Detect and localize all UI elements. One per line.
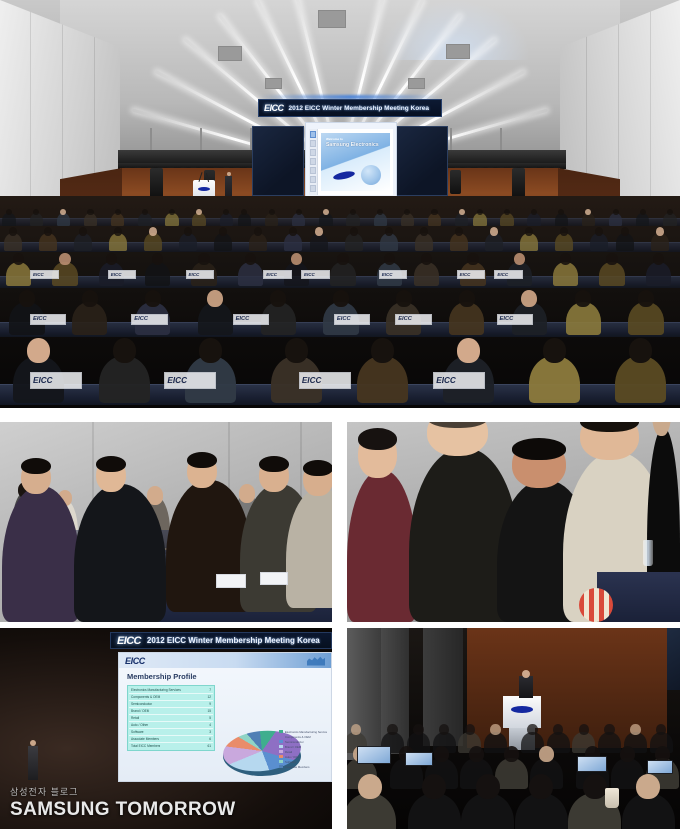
- audience-head: [396, 290, 412, 307]
- audience-member: [192, 213, 205, 225]
- rig-rod: [500, 128, 502, 152]
- name-card: EICC: [186, 270, 215, 279]
- audience-member: [455, 213, 468, 225]
- striped-cup: [579, 588, 613, 622]
- audience-head: [59, 253, 70, 265]
- audience-member: [450, 233, 468, 250]
- audience-head: [413, 724, 423, 735]
- hanging-speaker: [450, 170, 461, 194]
- audience-head: [621, 227, 629, 236]
- audience-head: [459, 290, 475, 307]
- audience-member: [111, 213, 124, 225]
- banner-title: 2012 EICC Winter Membership Meeting Kore…: [289, 105, 429, 112]
- audience-head: [579, 724, 589, 735]
- audience-head: [469, 746, 484, 762]
- slide-thumbnail: [310, 176, 316, 183]
- audience-head: [539, 746, 554, 762]
- eicc-logo: EICC: [125, 656, 145, 666]
- eicc-logo: EICC: [33, 376, 53, 385]
- name-card: EICC: [301, 270, 330, 279]
- photo-main-hall: EICC 2012 EICC Winter Membership Meeting…: [0, 0, 680, 408]
- audience-head: [385, 227, 393, 236]
- audience-head: [358, 774, 382, 799]
- audience-head: [653, 253, 664, 265]
- audience-hair: [96, 456, 126, 472]
- table-row: Brand / OEM15: [129, 708, 213, 715]
- audience-head: [667, 209, 673, 216]
- ceiling-vent: [218, 46, 242, 61]
- audience-head: [44, 227, 52, 236]
- audience-member: [6, 262, 31, 285]
- hanging-speaker: [512, 168, 525, 198]
- audience-member: [238, 213, 251, 225]
- audience-head: [630, 724, 640, 735]
- laptop-screen: [358, 747, 390, 763]
- powerpoint-window: Welcome to Samsung Electronics: [309, 129, 393, 195]
- audience-member: [292, 213, 305, 225]
- audience-head: [87, 209, 93, 216]
- audience-head: [521, 290, 537, 307]
- laptop: [577, 756, 607, 772]
- audience-member: [616, 233, 634, 250]
- name-card: EICC: [30, 314, 66, 325]
- ceiling-vent: [446, 44, 470, 59]
- audience-head: [350, 227, 358, 236]
- samsung-logo: [511, 706, 533, 713]
- table-row: Associate Members6: [129, 736, 213, 743]
- name-card: EICC: [494, 270, 523, 279]
- table-row: Electronics Manufacturing Services7: [129, 687, 213, 694]
- audience-head: [9, 227, 17, 236]
- audience-head: [420, 227, 428, 236]
- legend-swatch: [279, 760, 283, 763]
- name-card: EICC: [433, 372, 485, 388]
- audience-head: [106, 253, 117, 265]
- slide-stage: Welcome to Samsung Electronics: [318, 129, 393, 195]
- legend-label: Components & OEM: [285, 735, 311, 739]
- name-card: EICC: [334, 314, 370, 325]
- audience-head: [145, 290, 161, 307]
- eicc-logo: EICC: [382, 272, 393, 277]
- audience-member: [238, 262, 263, 285]
- audience-head: [350, 209, 356, 216]
- samsung-ellipse-logo: [333, 170, 356, 181]
- legend-item: Associate Members: [279, 764, 327, 769]
- audience-hair: [21, 458, 51, 474]
- audience-hair: [512, 438, 566, 460]
- audience-head: [595, 227, 603, 236]
- audience-member: [401, 213, 414, 225]
- audience-member: [198, 302, 233, 335]
- eicc-logo: EICC: [33, 272, 44, 277]
- audience-member: [57, 213, 70, 225]
- audience-head: [455, 227, 463, 236]
- slide-thumbnail: [310, 140, 316, 147]
- audience-member: [310, 233, 328, 250]
- name-card: EICC: [379, 270, 408, 279]
- audience-head: [184, 227, 192, 236]
- audience-member: [599, 262, 624, 285]
- audience-head: [384, 253, 395, 265]
- row-value: 9: [209, 702, 211, 706]
- audience-head: [337, 253, 348, 265]
- audience-head: [422, 774, 446, 799]
- legend-label: Retail: [285, 750, 292, 754]
- audience-head: [149, 227, 157, 236]
- membership-table: Electronics Manufacturing Services7Compo…: [127, 685, 215, 751]
- eicc-logo: EICC: [460, 272, 471, 277]
- audience-head: [560, 227, 568, 236]
- eicc-logo: EICC: [236, 316, 250, 322]
- audience-member: [179, 233, 197, 250]
- audience-head: [269, 209, 275, 216]
- presenter-head: [522, 670, 530, 678]
- hanging-speaker: [150, 168, 163, 198]
- audience-member: [144, 233, 162, 250]
- audience-head: [113, 338, 136, 363]
- welcome-slide: Welcome to Samsung Electronics: [321, 133, 390, 191]
- stage-banner: EICC 2012 EICC Winter Membership Meeting…: [110, 632, 332, 649]
- audience-member: [485, 233, 503, 250]
- audience-head: [270, 290, 286, 307]
- photo-audience-closeup: [347, 422, 680, 622]
- audience-head: [604, 724, 614, 735]
- audience-head: [207, 290, 223, 307]
- audience-head: [514, 253, 525, 265]
- eicc-logo: EICC: [167, 376, 187, 385]
- audience-head: [457, 338, 480, 363]
- name-card: [216, 574, 246, 588]
- audience-head: [19, 290, 35, 307]
- audience-head: [219, 227, 227, 236]
- audience-member: [473, 213, 486, 225]
- presenter-body: [519, 676, 533, 698]
- audience-member: [72, 302, 107, 335]
- audience-head: [169, 209, 175, 216]
- audience-head: [198, 253, 209, 265]
- audience-head: [629, 338, 652, 363]
- side-screen-right: [396, 126, 448, 196]
- audience-hair: [187, 452, 217, 468]
- table-row: Semiconductor9: [129, 701, 213, 708]
- row-label: Software: [131, 730, 144, 734]
- photo-collage: EICC 2012 EICC Winter Membership Meeting…: [0, 0, 680, 829]
- slide-thumbnail-rail: [309, 129, 318, 195]
- eicc-logo: EICC: [500, 316, 514, 322]
- slide-kicker: Welcome to: [326, 137, 343, 141]
- chart-legend: Electronics Manufacturing ServicesCompon…: [279, 729, 327, 769]
- row-label: Retail: [131, 716, 139, 720]
- audience-head: [254, 227, 262, 236]
- slide-thumbnail: [310, 185, 316, 192]
- audience-member: [145, 262, 170, 285]
- audience-head: [490, 724, 500, 735]
- audience-head: [439, 724, 449, 735]
- table-row: Components & OEM12: [129, 694, 213, 701]
- podium: [503, 696, 541, 728]
- audience-member: [415, 233, 433, 250]
- eicc-logo: EICC: [398, 316, 412, 322]
- photo-audience-profiles: [0, 422, 332, 622]
- audience-member: [84, 213, 97, 225]
- audience-member: [598, 732, 621, 753]
- eicc-logo: EICC: [111, 272, 122, 277]
- rig-rod: [200, 128, 202, 152]
- audience-member: [265, 213, 278, 225]
- audience-head: [640, 209, 646, 216]
- audience-head: [527, 724, 537, 735]
- audience-head: [82, 290, 98, 307]
- legend-swatch: [279, 755, 283, 758]
- name-card: EICC: [108, 270, 137, 279]
- legend-label: Auto / Other: [285, 755, 300, 759]
- table-row: Retail5: [129, 715, 213, 722]
- name-card: EICC: [131, 314, 167, 325]
- photo-podium-speaker: [347, 628, 680, 829]
- legend-label: Software: [285, 760, 296, 764]
- conference-table: [0, 242, 680, 252]
- audience-member: [553, 262, 578, 285]
- audience-member: [628, 302, 663, 335]
- slide-thumbnail: [310, 167, 316, 174]
- laptop: [647, 760, 673, 774]
- audience-head: [638, 290, 654, 307]
- audience-hair: [303, 460, 332, 476]
- banner-title: 2012 EICC Winter Membership Meeting Kore…: [147, 636, 320, 645]
- laptop: [405, 752, 433, 766]
- name-card: EICC: [233, 314, 269, 325]
- audience-member: [529, 356, 579, 403]
- table-row: Software3: [129, 729, 213, 736]
- audience-head: [459, 209, 465, 216]
- samsung-logo: [198, 187, 210, 191]
- audience-head: [79, 227, 87, 236]
- ceiling-vent: [408, 78, 425, 89]
- name-card: EICC: [497, 314, 533, 325]
- audience-head: [477, 209, 483, 216]
- audience-head: [323, 209, 329, 216]
- globe-graphic: [361, 165, 381, 185]
- photo-membership-profile: EICC 2012 EICC Winter Membership Meeting…: [0, 628, 332, 829]
- presenter-head: [227, 172, 231, 176]
- audience-member: [319, 213, 332, 225]
- audience-head: [333, 290, 349, 307]
- name-card: EICC: [164, 372, 216, 388]
- legend-swatch: [279, 750, 283, 753]
- audience-hair: [358, 428, 397, 450]
- audience-member: [249, 233, 267, 250]
- audience-area: EICCEICCEICCEICCEICCEICCEICCEICCEICCEICC…: [0, 196, 680, 408]
- slide-thumbnail: [310, 158, 316, 165]
- audience-head: [285, 338, 308, 363]
- audience-head: [245, 253, 256, 265]
- audience-head: [636, 774, 660, 799]
- name-card: [260, 572, 288, 585]
- row-label: Components & OEM: [131, 695, 160, 699]
- audience-head: [315, 227, 323, 236]
- audience-member: [527, 213, 540, 225]
- projection-screen-assembly: Welcome to Samsung Electronics: [252, 122, 448, 200]
- audience-head: [504, 746, 519, 762]
- audience-head: [583, 774, 607, 799]
- rig-rod: [150, 128, 152, 152]
- legend-swatch: [279, 765, 283, 768]
- slide-header: EICC: [119, 653, 331, 668]
- audience-head: [6, 209, 12, 216]
- audience-hair: [259, 456, 289, 472]
- audience-member: [330, 262, 355, 285]
- audience-head: [553, 724, 563, 735]
- audience-member: [345, 233, 363, 250]
- legend-label: Brand / OEM: [285, 745, 301, 749]
- audience-head: [467, 253, 478, 265]
- name-card: EICC: [30, 270, 59, 279]
- audience-member: [74, 233, 92, 250]
- audience-member: [138, 213, 151, 225]
- legend-swatch: [279, 745, 283, 748]
- row-value: 5: [209, 716, 211, 720]
- legend-swatch: [279, 740, 283, 743]
- audience-head: [289, 227, 297, 236]
- presenter-body: [28, 746, 38, 780]
- name-card: EICC: [263, 270, 292, 279]
- audience-member: [495, 758, 528, 788]
- audience-head: [606, 253, 617, 265]
- audience-member: [374, 213, 387, 225]
- audience-head: [387, 724, 397, 735]
- row-value: 3: [209, 730, 211, 734]
- eicc-logo: EICC: [134, 316, 148, 322]
- row-value: 7: [209, 688, 211, 692]
- audience-head: [504, 209, 510, 216]
- audience-member: [414, 262, 439, 285]
- audience-head: [656, 227, 664, 236]
- audience-head: [27, 338, 50, 363]
- main-projection-screen: Welcome to Samsung Electronics: [305, 122, 397, 200]
- table-row: Auto / Other4: [129, 722, 213, 729]
- audience-member: [165, 213, 178, 225]
- stage-banner: EICC 2012 EICC Winter Membership Meeting…: [258, 99, 442, 117]
- audience-member: [615, 356, 665, 403]
- audience-member: [590, 233, 608, 250]
- laptop-screen: [406, 753, 432, 765]
- audience-head: [296, 209, 302, 216]
- row-value: 15: [207, 709, 211, 713]
- audience-member: [500, 213, 513, 225]
- name-card: EICC: [299, 372, 351, 388]
- eicc-logo: EICC: [117, 635, 141, 647]
- audience-member: [555, 233, 573, 250]
- audience-head: [613, 209, 619, 216]
- row-value: 6: [209, 737, 211, 741]
- audience-head: [490, 227, 498, 236]
- audience-member: [582, 213, 595, 225]
- eicc-logo: EICC: [266, 272, 277, 277]
- water-glass: [643, 540, 653, 566]
- audience-head: [620, 746, 635, 762]
- legend-label: Electronics Manufacturing Services: [285, 730, 327, 734]
- eicc-logo: EICC: [302, 376, 322, 385]
- audience-member: [99, 356, 149, 403]
- row-label: Brand / OEM: [131, 709, 149, 713]
- audience-head: [142, 209, 148, 216]
- eicc-logo: EICC: [264, 103, 284, 113]
- audience-head: [239, 484, 256, 503]
- eicc-logo: EICC: [497, 272, 508, 277]
- audience-head: [434, 746, 449, 762]
- audience-head: [114, 227, 122, 236]
- name-card: EICC: [457, 270, 486, 279]
- laptop-screen: [648, 761, 672, 773]
- audience-head: [529, 774, 553, 799]
- audience-member: [109, 233, 127, 250]
- audience-member: [346, 213, 359, 225]
- conference-table: [0, 218, 680, 226]
- audience-head: [371, 338, 394, 363]
- presenter-head: [30, 740, 36, 746]
- audience-head: [431, 209, 437, 216]
- row-label: Total EICC Members: [131, 744, 160, 748]
- eicc-logo: EICC: [304, 272, 315, 277]
- projection-screen: EICC Membership Profile Electronics Manu…: [118, 652, 332, 782]
- legend-swatch: [279, 730, 283, 733]
- slide-title: Samsung Electronics: [326, 142, 379, 148]
- audience-member: [609, 213, 622, 225]
- audience-head: [525, 227, 533, 236]
- ceiling-vent: [318, 10, 346, 28]
- side-screen-left: [252, 126, 304, 196]
- eicc-logo: EICC: [436, 376, 456, 385]
- audience-member: [651, 233, 669, 250]
- audience-member: [214, 233, 232, 250]
- audience-member: [39, 233, 57, 250]
- audience-head: [476, 774, 500, 799]
- globe-icon: [307, 656, 325, 666]
- audience-member: [284, 233, 302, 250]
- legend-label: Associate Members: [285, 765, 310, 769]
- row-label: Semiconductor: [131, 702, 152, 706]
- eicc-logo: EICC: [189, 272, 200, 277]
- name-card: EICC: [30, 372, 82, 388]
- audience-member: [663, 213, 676, 225]
- audience-head: [351, 724, 361, 735]
- audience-head: [575, 290, 591, 307]
- slide-thumbnail: [310, 149, 316, 156]
- audience-head: [465, 724, 475, 735]
- audience-member: [4, 233, 22, 250]
- laptop-screen: [578, 757, 606, 771]
- name-card: EICC: [395, 314, 431, 325]
- rig-rod: [450, 128, 452, 152]
- audience-member: [357, 356, 407, 403]
- audience-member: [428, 213, 441, 225]
- coffee-cup: [605, 788, 619, 808]
- row-value: 61: [207, 744, 211, 748]
- legend-swatch: [279, 735, 283, 738]
- row-value: 4: [209, 723, 211, 727]
- row-label: Electronics Manufacturing Services: [131, 688, 181, 692]
- audience-member: [636, 213, 649, 225]
- laptop: [357, 746, 391, 764]
- audience-member: [555, 213, 568, 225]
- eicc-logo: EICC: [33, 316, 47, 322]
- audience-member: [30, 213, 43, 225]
- row-label: Associate Members: [131, 737, 159, 741]
- ceiling-vent: [265, 78, 282, 89]
- audience-member: [380, 233, 398, 250]
- legend-item: Electronics Manufacturing Services: [279, 729, 327, 734]
- audience-member: [449, 302, 484, 335]
